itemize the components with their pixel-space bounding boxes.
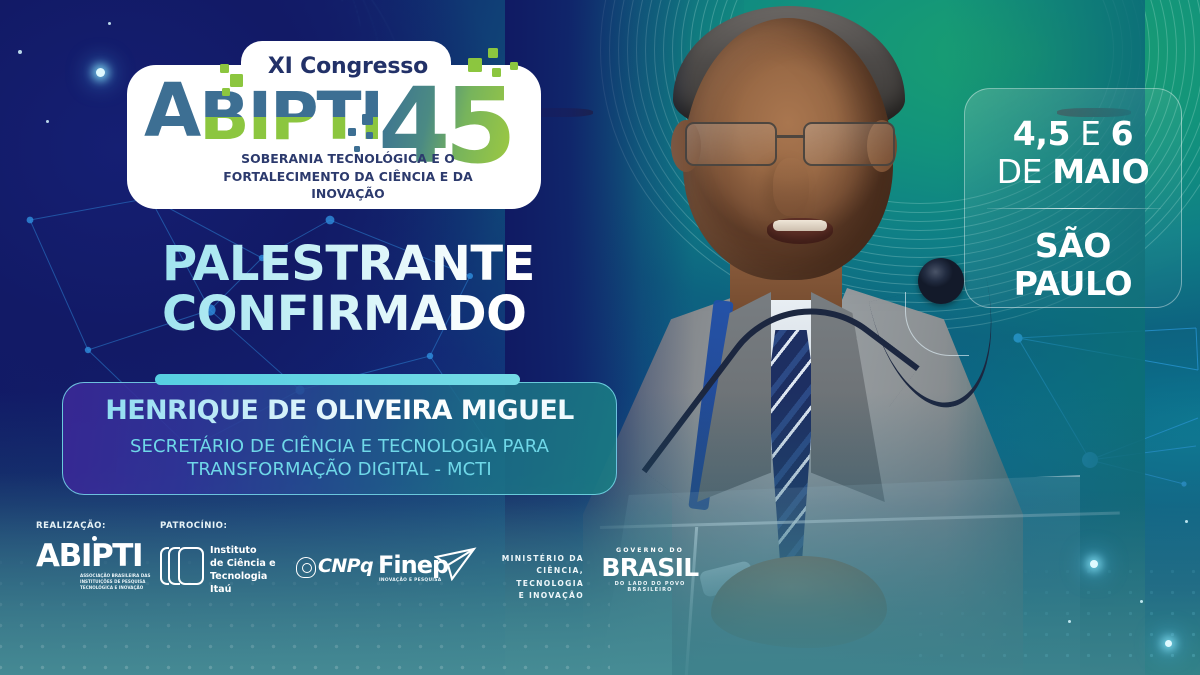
event-date-conjunction: E (1080, 114, 1100, 153)
event-date-day-last: 6 (1111, 114, 1134, 153)
event-city: SÃO PAULO (965, 227, 1181, 304)
abipti-tagline: ASSOCIAÇÃO BRASILEIRA DAS INSTITUIÇÕES D… (80, 573, 154, 591)
glow-particle (1090, 560, 1098, 568)
pixel-accent (366, 132, 373, 139)
finep-logo: Finep INOVAÇÃO E PESQUISA (378, 551, 474, 589)
event-city-line-1: SÃO (965, 227, 1181, 265)
realization-label: REALIZAÇÃO: (36, 521, 106, 531)
speck (1185, 520, 1188, 523)
glow-particle (96, 68, 105, 77)
pixel-accent (348, 128, 356, 136)
logo-theme-line-2: FORTALECIMENTO DA CIÊNCIA E DA INOVAÇÃO (188, 168, 508, 203)
poster-canvas: Homem de terno cinza falando ao microfon… (0, 0, 1200, 675)
event-month: MAIO (1052, 152, 1149, 191)
mcti-line-1: MINISTÉRIO DA (474, 553, 584, 565)
speaker-role-line-1: SECRETÁRIO DE CIÊNCIA E TECNOLOGIA PARA (63, 435, 616, 458)
abipti-logo: ABIPTI ASSOCIAÇÃO BRASILEIRA DAS INSTITU… (36, 541, 148, 589)
cnpq-glyph-icon (296, 557, 316, 578)
speaker-panel: HENRIQUE DE OLIVEIRA MIGUEL SECRETÁRIO D… (62, 382, 617, 495)
date-location-card: 4,5 E 6 DE MAIO SÃO PAULO (964, 88, 1182, 308)
dot-pattern-right (910, 561, 1200, 675)
logo-theme: SOBERANIA TECNOLÓGICA E O FORTALECIMENTO… (188, 150, 508, 203)
abipti-wordmark: ABIPTI (36, 541, 142, 572)
speaker-name: HENRIQUE DE OLIVEIRA MIGUEL (63, 395, 616, 426)
event-city-line-2: PAULO (965, 265, 1181, 303)
event-date: 4,5 E 6 DE MAIO (965, 115, 1181, 192)
sponsorship-label: PATROCÍNIO: (160, 521, 227, 531)
credits-bar: REALIZAÇÃO: PATROCÍNIO: ABIPTI ASSOCIAÇÃ… (0, 513, 660, 623)
itau-line-3: Tecnologia Itaú (210, 571, 286, 597)
headline: PALESTRANTE CONFIRMADO (162, 240, 582, 340)
finep-arrow-icon (434, 547, 478, 581)
speaker-accent-bar (155, 374, 520, 385)
cnpq-logo: CNPq (296, 555, 374, 581)
pixel-accent (220, 64, 229, 73)
government-logo: GOVERNO DO BRASIL DO LADO DO POVO BRASIL… (596, 547, 704, 593)
mcti-logo: MINISTÉRIO DA CIÊNCIA, TECNOLOGIA E INOV… (474, 553, 584, 602)
event-date-days: 4,5 (1013, 114, 1070, 153)
itau-line-2: de Ciência e (210, 558, 286, 571)
headline-line-1: PALESTRANTE (162, 236, 535, 292)
finep-tagline: INOVAÇÃO E PESQUISA (379, 578, 441, 583)
pixel-accent (230, 74, 243, 87)
pixel-accent (488, 48, 498, 58)
mcti-line-2: CIÊNCIA, TECNOLOGIA (474, 565, 584, 590)
speck (18, 50, 22, 54)
logo-theme-line-1: SOBERANIA TECNOLÓGICA E O (188, 150, 508, 168)
pixel-accent (362, 114, 373, 125)
speck (1140, 600, 1143, 603)
mcti-line-3: E INOVAÇÃO (474, 590, 584, 602)
speaker-role: SECRETÁRIO DE CIÊNCIA E TECNOLOGIA PARA … (63, 435, 616, 481)
itau-line-1: Instituto (210, 545, 286, 558)
logo-wordmark: ABIPTIBIPTI (144, 86, 382, 148)
itau-glyph-icon (160, 547, 204, 585)
itau-text: Instituto de Ciência e Tecnologia Itaú (210, 545, 286, 597)
government-slogan: DO LADO DO POVO BRASILEIRO (596, 581, 704, 593)
pixel-accent (510, 62, 518, 70)
pixel-accent (222, 88, 230, 96)
speck (108, 22, 111, 25)
microphone-icon (918, 258, 964, 304)
date-city-divider (987, 208, 1161, 209)
cnpq-wordmark: CNPq (318, 555, 373, 577)
glow-particle (1165, 640, 1172, 647)
speck (1068, 620, 1071, 623)
speck (46, 120, 49, 123)
headline-line-2: CONFIRMADO (162, 290, 582, 340)
event-logo: XI Congresso ABIPTIBIPTI 45 ANOS SOBERAN… (126, 42, 556, 220)
speaker-role-line-2: TRANSFORMAÇÃO DIGITAL - MCTI (63, 458, 616, 481)
event-month-prefix: DE (997, 152, 1042, 191)
government-name: BRASIL (596, 554, 704, 581)
itau-logo: Instituto de Ciência e Tecnologia Itaú (160, 543, 286, 591)
